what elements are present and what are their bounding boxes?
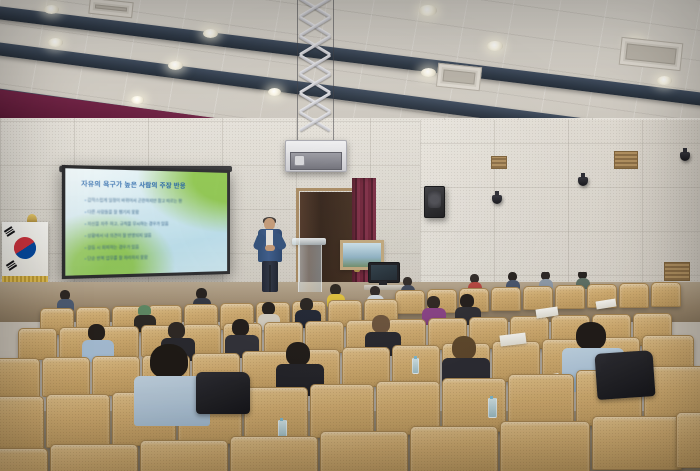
seat[interactable]: [0, 396, 44, 450]
person-head: [88, 324, 105, 341]
ceiling-downlight: [168, 61, 183, 70]
seat[interactable]: [619, 283, 649, 308]
projector-lens-icon: [294, 155, 305, 166]
projector-housing: [285, 140, 347, 172]
seat[interactable]: [491, 287, 521, 311]
slide-bullet: 갈등 시 회피하는 경우가 있음: [85, 243, 217, 251]
lift-wire: [297, 0, 298, 144]
seat[interactable]: [310, 384, 374, 438]
person-head: [576, 322, 606, 350]
seat[interactable]: [676, 412, 700, 468]
ceiling-downlight: [419, 5, 437, 16]
person-head: [232, 319, 249, 336]
projection-screen: 자유의 욕구가 높은 사람의 주장 반응 갑작스럽게 일정이 바뀌어서 곤란하지…: [62, 165, 230, 279]
water-bottle: [488, 398, 497, 418]
wood-vent-grille: [491, 156, 507, 169]
seat[interactable]: [523, 286, 553, 310]
person-cap: [138, 305, 151, 315]
person-head: [168, 322, 185, 339]
ac-vent: [436, 63, 482, 91]
person-head: [150, 344, 188, 378]
water-bottle: [412, 358, 419, 374]
presenter-hands: [265, 245, 275, 251]
ceiling-downlight: [48, 38, 63, 47]
seat[interactable]: [410, 426, 498, 471]
backpack: [594, 350, 655, 400]
seat[interactable]: [651, 282, 681, 307]
seat[interactable]: [42, 357, 90, 397]
audience-member: [150, 344, 200, 416]
slide-bullet: 단순 반복 업무를 잘 처리하지 못함: [85, 254, 217, 263]
ceiling-downlight: [421, 68, 436, 77]
audience-seating: [0, 272, 700, 471]
audience-member: [452, 336, 486, 384]
backpack: [196, 372, 250, 414]
lecture-hall-photo: 자유의 욕구가 높은 사람의 주장 반응 갑작스럽게 일정이 바뀌어서 곤란하지…: [0, 0, 700, 471]
audience-member: [232, 319, 256, 353]
wood-vent-grille: [614, 151, 638, 169]
audience-member: [88, 324, 112, 358]
seat[interactable]: [0, 448, 48, 471]
seat[interactable]: [592, 416, 682, 470]
lift-wire: [333, 0, 334, 144]
ceiling-downlight: [657, 76, 672, 85]
person-head: [372, 315, 390, 333]
seat[interactable]: [18, 328, 57, 360]
slide-bullet: 상황에서 내 의견이 잘 반영되지 않음: [85, 232, 217, 239]
audience-member: [60, 290, 75, 310]
slide-bullet: 다른 사람들을 잘 챙기지 못함: [85, 209, 217, 216]
projected-slide: 자유의 욕구가 높은 사람의 주장 반응 갑작스럽게 일정이 바뀌어서 곤란하지…: [65, 168, 227, 275]
seat[interactable]: [395, 290, 425, 314]
seat[interactable]: [0, 358, 40, 398]
podium-top: [292, 238, 326, 245]
ceiling-downlight: [487, 41, 503, 51]
ceiling-downlight: [203, 29, 218, 38]
seat[interactable]: [244, 387, 308, 441]
slide-title: 자유의 욕구가 높은 사람의 주장 반응: [81, 178, 217, 190]
ceiling-downlight: [131, 96, 144, 104]
seat[interactable]: [555, 285, 585, 309]
seat[interactable]: [230, 436, 318, 471]
ceiling-downlight: [44, 5, 59, 14]
ceiling-downlight: [268, 88, 281, 96]
seat[interactable]: [50, 444, 138, 471]
seat[interactable]: [46, 394, 110, 448]
pa-speaker: [424, 186, 445, 218]
audience-member: [286, 342, 320, 390]
person-head: [286, 342, 310, 366]
person-head: [460, 294, 474, 308]
seat[interactable]: [500, 421, 590, 471]
projector-lift: [285, 0, 345, 170]
person-head: [452, 336, 476, 360]
seat[interactable]: [92, 356, 140, 396]
slide-bullet: 자신을 자주 하고, 규칙을 무시하는 경우가 있음: [85, 221, 217, 228]
seat[interactable]: [320, 431, 408, 471]
slide-bullet: 갑작스럽게 일정이 바뀌어서 곤란하지만 참고 따르는 편: [85, 198, 217, 206]
seat[interactable]: [140, 440, 228, 471]
